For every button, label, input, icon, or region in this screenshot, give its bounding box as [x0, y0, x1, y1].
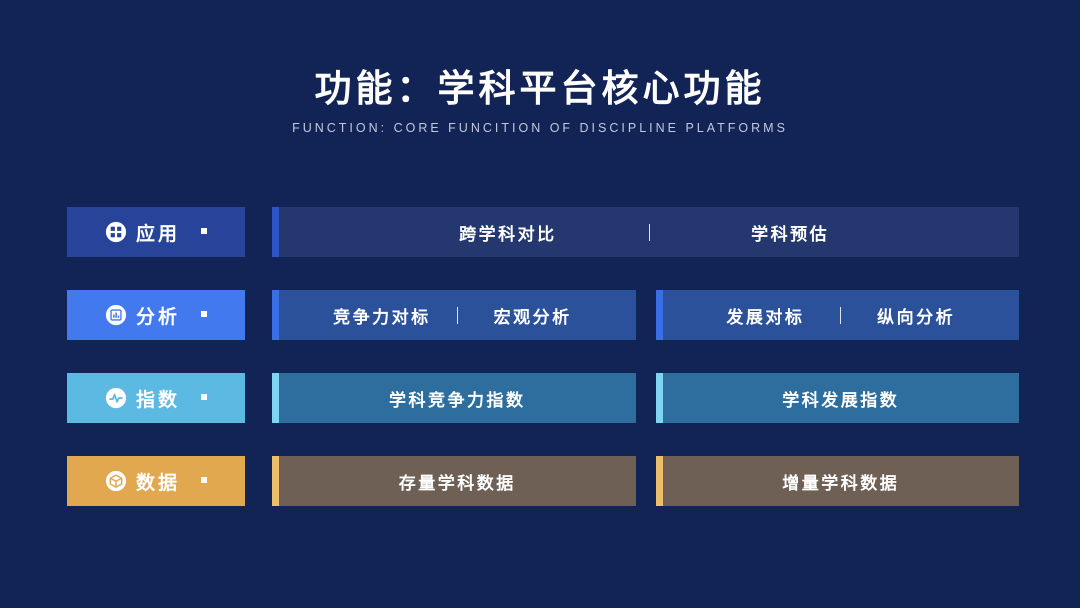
panel-segment-label: 跨学科对比 — [367, 220, 648, 245]
panel-application-0[interactable]: 跨学科对比学科预估 — [272, 207, 1019, 257]
category-chip-label: 分析 — [136, 302, 180, 329]
panel-inner: 竞争力对标宏观分析 — [272, 303, 636, 328]
panel-inner: 发展对标纵向分析 — [656, 303, 1020, 328]
segment-divider — [649, 224, 650, 241]
panel-accent-bar — [272, 456, 279, 506]
panel-inner: 跨学科对比学科预估 — [272, 220, 1019, 245]
category-chip-application[interactable]: 应用 — [67, 207, 245, 257]
panel-segment-label: 存量学科数据 — [279, 469, 636, 494]
panel-accent-bar — [272, 290, 279, 340]
pulse-icon — [105, 387, 127, 409]
panel-accent-bar — [656, 373, 663, 423]
panel-index-0[interactable]: 学科竞争力指数 — [272, 373, 636, 423]
grid-icon — [105, 221, 127, 243]
panel-analysis-0[interactable]: 竞争力对标宏观分析 — [272, 290, 636, 340]
panel-group-index: 学科竞争力指数学科发展指数 — [272, 373, 1019, 423]
panel-index-1[interactable]: 学科发展指数 — [656, 373, 1020, 423]
feature-row-application: 应用跨学科对比学科预估 — [67, 207, 1019, 257]
category-chip-label: 应用 — [136, 219, 180, 246]
panel-accent-bar — [656, 290, 663, 340]
panel-data-1[interactable]: 增量学科数据 — [656, 456, 1020, 506]
chip-accent-dot — [201, 311, 207, 317]
panel-segment-label: 学科预估 — [650, 220, 931, 245]
chip-accent-dot — [201, 394, 207, 400]
panel-group-data: 存量学科数据增量学科数据 — [272, 456, 1019, 506]
page-subtitle: FUNCTION: CORE FUNCITION OF DISCIPLINE P… — [0, 121, 1080, 135]
title-block: 功能：学科平台核心功能 FUNCTION: CORE FUNCITION OF … — [0, 66, 1080, 135]
feature-row-index: 指数学科竞争力指数学科发展指数 — [67, 373, 1019, 423]
panel-accent-bar — [272, 207, 279, 257]
panel-inner: 学科竞争力指数 — [272, 386, 636, 411]
panel-segment-label: 学科发展指数 — [663, 386, 1020, 411]
panel-segment-label: 竞争力对标 — [307, 303, 457, 328]
panel-segment-label: 发展对标 — [691, 303, 841, 328]
feature-row-analysis: 分析竞争力对标宏观分析发展对标纵向分析 — [67, 290, 1019, 340]
bar-chart-icon — [105, 304, 127, 326]
category-chip-index[interactable]: 指数 — [67, 373, 245, 423]
panel-segment-label: 宏观分析 — [458, 303, 608, 328]
panel-accent-bar — [656, 456, 663, 506]
chip-accent-dot — [201, 228, 207, 234]
segment-divider — [457, 307, 458, 324]
segment-divider — [840, 307, 841, 324]
panel-analysis-1[interactable]: 发展对标纵向分析 — [656, 290, 1020, 340]
panel-segment-label: 纵向分析 — [841, 303, 991, 328]
panel-inner: 存量学科数据 — [272, 469, 636, 494]
cube-icon — [105, 470, 127, 492]
category-chip-analysis[interactable]: 分析 — [67, 290, 245, 340]
panel-accent-bar — [272, 373, 279, 423]
panel-group-analysis: 竞争力对标宏观分析发展对标纵向分析 — [272, 290, 1019, 340]
feature-row-data: 数据存量学科数据增量学科数据 — [67, 456, 1019, 506]
feature-rows: 应用跨学科对比学科预估分析竞争力对标宏观分析发展对标纵向分析指数学科竞争力指数学… — [67, 207, 1019, 506]
chip-accent-dot — [201, 477, 207, 483]
category-chip-label: 指数 — [136, 385, 180, 412]
panel-inner: 增量学科数据 — [656, 469, 1020, 494]
panel-data-0[interactable]: 存量学科数据 — [272, 456, 636, 506]
panel-segment-label: 学科竞争力指数 — [279, 386, 636, 411]
panel-group-application: 跨学科对比学科预估 — [272, 207, 1019, 257]
panel-segment-label: 增量学科数据 — [663, 469, 1020, 494]
panel-inner: 学科发展指数 — [656, 386, 1020, 411]
category-chip-label: 数据 — [136, 468, 180, 495]
page-title: 功能：学科平台核心功能 — [0, 66, 1080, 112]
category-chip-data[interactable]: 数据 — [67, 456, 245, 506]
